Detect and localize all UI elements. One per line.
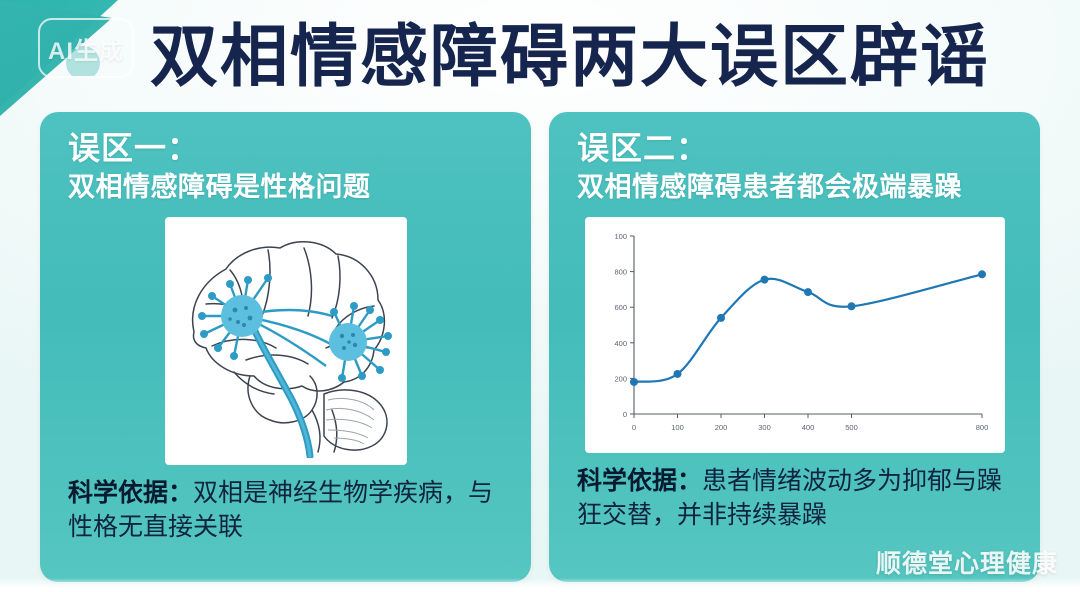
- myth-card-2-claim: 双相情感障碍患者都会极端暴躁: [577, 171, 1020, 203]
- svg-text:100: 100: [671, 423, 684, 432]
- svg-text:400: 400: [614, 339, 627, 348]
- myth-card-2-note: 科学依据：患者情绪波动多为抑郁与躁狂交替，并非持续暴躁: [577, 465, 1018, 532]
- svg-text:800: 800: [975, 423, 988, 432]
- myth-card-1: 误区一： 双相情感障碍是性格问题: [40, 112, 531, 582]
- svg-text:200: 200: [714, 423, 727, 432]
- svg-text:600: 600: [614, 303, 627, 312]
- bottom-fade-band: [0, 578, 1080, 592]
- myth-card-2-media: 02004006008001000100200300400500800: [569, 217, 1020, 453]
- myth-card-1-media: [60, 217, 511, 465]
- svg-text:200: 200: [614, 375, 627, 384]
- svg-text:100: 100: [614, 232, 627, 241]
- myth-card-2-kicker: 误区二：: [577, 130, 1020, 167]
- myth-card-1-claim: 双相情感障碍是性格问题: [68, 171, 511, 203]
- myth-card-2-note-label: 科学依据：: [577, 467, 702, 495]
- myth-cards-container: 误区一： 双相情感障碍是性格问题: [40, 112, 1040, 582]
- svg-text:500: 500: [845, 423, 858, 432]
- svg-text:300: 300: [758, 423, 771, 432]
- page-title-text: 双相情感障碍两大误区辟谣: [150, 23, 990, 91]
- ai-badge-label: AI生成: [48, 31, 124, 66]
- svg-text:800: 800: [614, 268, 627, 277]
- myth-card-1-note-label: 科学依据：: [68, 479, 193, 507]
- svg-text:0: 0: [622, 410, 626, 419]
- svg-text:0: 0: [631, 423, 635, 432]
- myth-card-1-note: 科学依据：双相是神经生物学疾病，与性格无直接关联: [68, 477, 509, 544]
- mood-line-chart: 02004006008001000100200300400500800: [590, 224, 996, 448]
- svg-text:400: 400: [801, 423, 814, 432]
- brain-illustration-icon: [172, 224, 400, 458]
- myth-card-2: 误区二： 双相情感障碍患者都会极端暴躁 02004006008001000100…: [549, 112, 1040, 582]
- page-title: 双相情感障碍两大误区辟谣: [0, 10, 1080, 104]
- mood-chart-frame: 02004006008001000100200300400500800: [585, 217, 1005, 453]
- brain-illustration-frame: [165, 217, 407, 465]
- poster-canvas: AI生成 双相情感障碍两大误区辟谣 误区一： 双相情感障碍是性格问题: [0, 0, 1080, 592]
- myth-card-1-kicker: 误区一：: [68, 130, 511, 167]
